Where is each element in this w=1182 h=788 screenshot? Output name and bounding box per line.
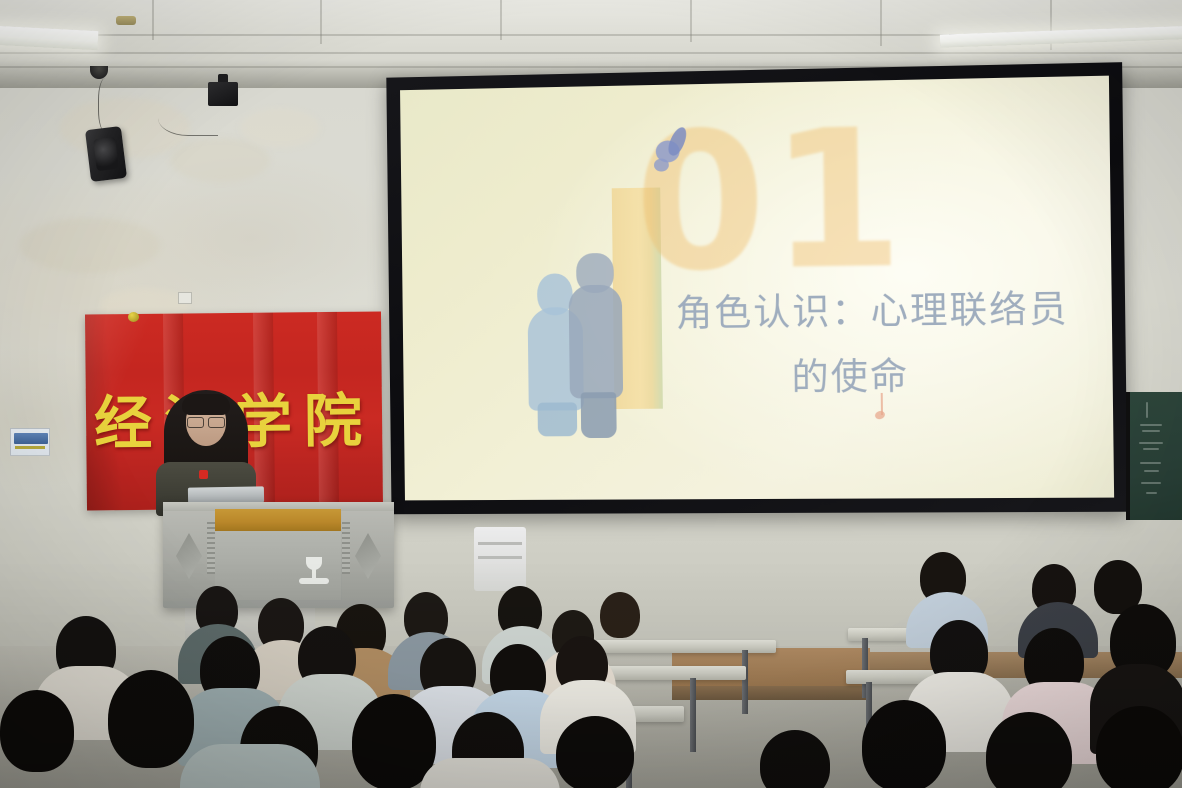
banner-pin-icon <box>128 312 139 322</box>
audience-head <box>108 670 194 768</box>
audience-shoulders <box>180 744 320 788</box>
speaker-cable <box>98 78 116 132</box>
podium-accent-band <box>215 509 341 531</box>
podium-vent-left <box>207 522 215 574</box>
presenter-badge <box>199 470 208 479</box>
classroom-chair-slat <box>478 556 522 559</box>
audience-head <box>352 694 436 788</box>
classroom-chair <box>474 527 526 591</box>
wall-sign-icon <box>10 428 50 456</box>
classroom-chair-slat <box>478 542 522 545</box>
wall-switch-plate <box>178 292 192 304</box>
audience-shoulders <box>420 758 560 788</box>
stage-platform-shadow <box>672 686 870 700</box>
slide-title: 角色认识：心理联络员 的使命 <box>675 277 1100 411</box>
slide-title-line2: 的使命 <box>676 342 1101 411</box>
audience-head <box>1096 706 1182 788</box>
slide-music-note-icon <box>875 393 884 421</box>
hanging-speaker-icon <box>85 126 127 182</box>
podium-vent-right <box>342 522 350 574</box>
projection-screen[interactable]: 01 角色认识：心理联络员 的使命 <box>400 76 1114 501</box>
glasses-icon <box>187 417 225 426</box>
podium-front-panel <box>215 531 341 600</box>
podium-diamond-right-icon <box>355 533 381 579</box>
audience-head <box>556 716 634 788</box>
podium-diamond-left-icon <box>176 533 202 579</box>
wall-av-box-icon <box>208 82 238 106</box>
slide-title-line1: 角色认识：心理联络员 <box>675 287 1069 335</box>
desk-leg <box>690 678 696 752</box>
podium-emblem-icon <box>295 555 333 589</box>
desk-row <box>596 640 776 653</box>
chalkboard <box>1126 392 1182 520</box>
audience-head <box>0 690 74 772</box>
podium <box>163 502 394 608</box>
slide-figure-right-icon <box>566 253 629 438</box>
projection-screen-frame: 01 角色认识：心理联络员 的使命 <box>386 62 1127 514</box>
desk-leg <box>742 650 748 714</box>
lecture-hall-photo: 01 角色认识：心理联络员 的使命 经济学院 <box>0 0 1182 788</box>
presenter-fringe <box>182 394 230 415</box>
fire-sprinkler-icon <box>116 16 136 25</box>
audience-head <box>862 700 946 788</box>
slide-bird-decoration-icon <box>654 126 696 171</box>
audience-head <box>600 592 640 638</box>
